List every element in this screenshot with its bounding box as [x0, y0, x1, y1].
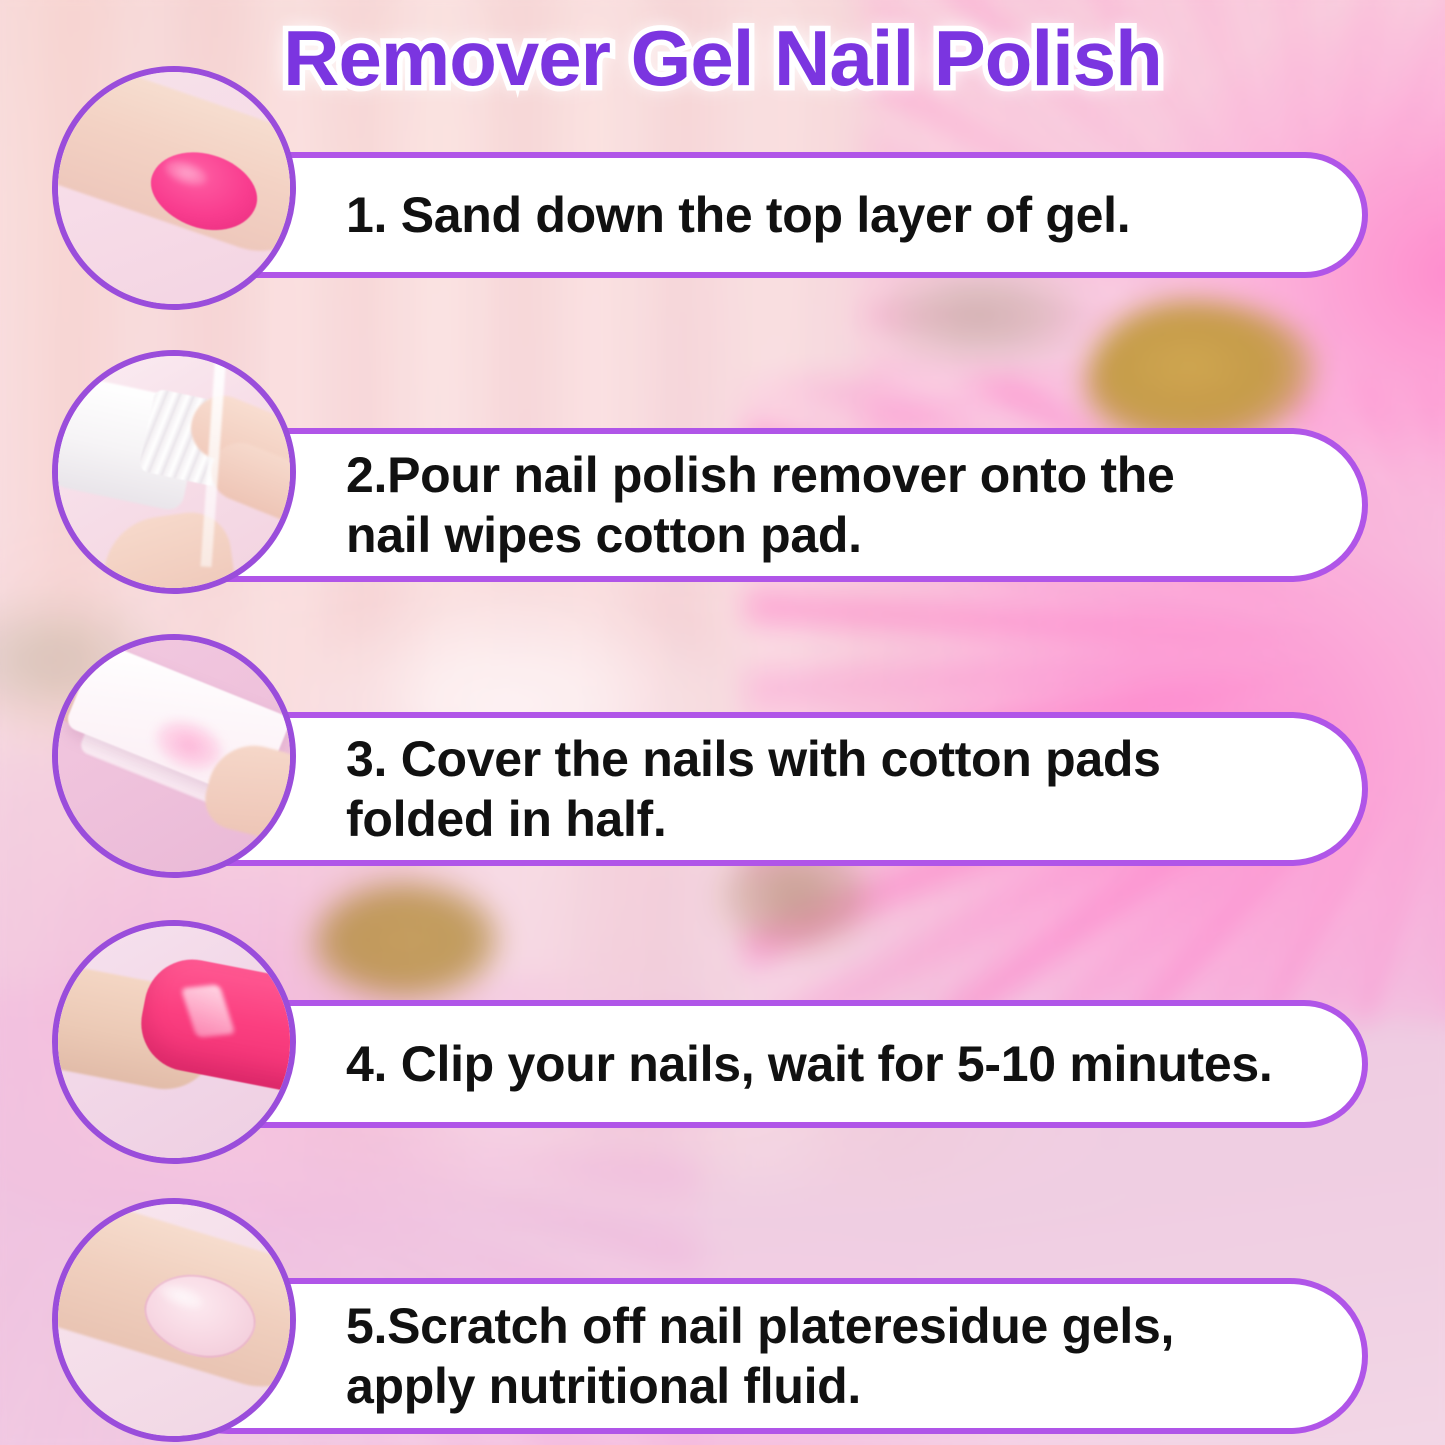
step-pill-5: 5.Scratch off nail plateresidue gels, ap… — [150, 1278, 1368, 1434]
step-image-4-content — [58, 926, 290, 1158]
step-image-1 — [52, 66, 296, 310]
step-text-2: 2.Pour nail polish remover onto the nail… — [156, 445, 1223, 565]
step-image-3 — [52, 634, 296, 878]
product-infographic-poster: Remover Gel Nail Polish 1. Sand down the… — [0, 0, 1445, 1445]
step-pill-1: 1. Sand down the top layer of gel. — [150, 152, 1368, 278]
step-image-5-content — [58, 1204, 290, 1436]
step-pill-2: 2.Pour nail polish remover onto the nail… — [150, 428, 1368, 582]
step-image-1-content — [58, 72, 290, 304]
step-image-3-content — [58, 640, 290, 872]
step-text-3: 3. Cover the nails with cotton pads fold… — [156, 729, 1209, 849]
step-image-2 — [52, 350, 296, 594]
step-image-4 — [52, 920, 296, 1164]
step-image-2-content — [58, 356, 290, 588]
step-text-1: 1. Sand down the top layer of gel. — [156, 185, 1178, 245]
step-text-5: 5.Scratch off nail plateresidue gels, ap… — [156, 1296, 1222, 1416]
step-pill-3: 3. Cover the nails with cotton pads fold… — [150, 712, 1368, 866]
step-pill-4: 4. Clip your nails, wait for 5-10 minute… — [150, 1000, 1368, 1128]
step-text-4: 4. Clip your nails, wait for 5-10 minute… — [156, 1034, 1321, 1094]
step-image-5 — [52, 1198, 296, 1442]
